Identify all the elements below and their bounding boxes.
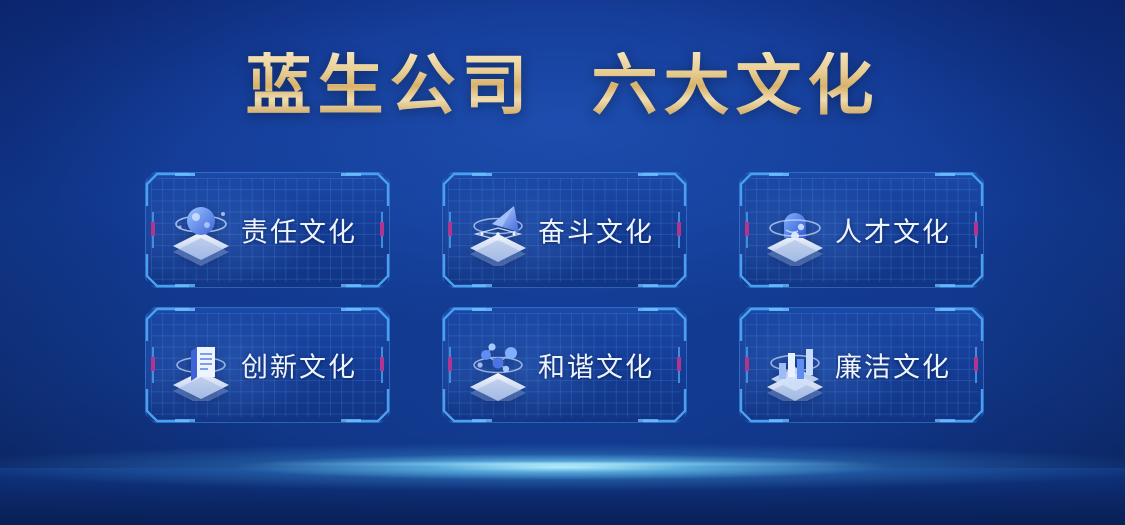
bar-chart-buildings-icon: [759, 329, 831, 401]
card-label: 奋斗文化: [538, 211, 654, 250]
page-title-container: 蓝生公司 六大文化: [0, 52, 1125, 118]
culture-card-innovation[interactable]: 创新文化: [145, 307, 390, 423]
culture-card-striving[interactable]: 奋斗文化: [442, 172, 687, 288]
card-label: 和谐文化: [538, 346, 654, 385]
bottom-light-beam: [0, 434, 1125, 500]
planet-globe-icon: [165, 194, 237, 266]
culture-card-harmony[interactable]: 和谐文化: [442, 307, 687, 423]
bottom-light-beam-core: [240, 462, 885, 466]
page-title: 蓝生公司 六大文化: [246, 52, 880, 118]
floor-gradient: [0, 468, 1125, 525]
card-label: 廉洁文化: [835, 346, 951, 385]
culture-poster: 蓝生公司 六大文化: [0, 0, 1125, 525]
culture-card-talent[interactable]: 人才文化: [739, 172, 984, 288]
culture-card-responsibility[interactable]: 责任文化: [145, 172, 390, 288]
card-label: 责任文化: [241, 211, 357, 250]
culture-card-grid: 责任文化: [145, 172, 985, 434]
molecule-network-icon: [462, 329, 534, 401]
person-bust-icon: [759, 194, 831, 266]
rocket-arrow-icon: [462, 194, 534, 266]
culture-card-integrity[interactable]: 廉洁文化: [739, 307, 984, 423]
card-label: 人才文化: [835, 211, 951, 250]
card-label: 创新文化: [241, 346, 357, 385]
document-book-icon: [165, 329, 237, 401]
